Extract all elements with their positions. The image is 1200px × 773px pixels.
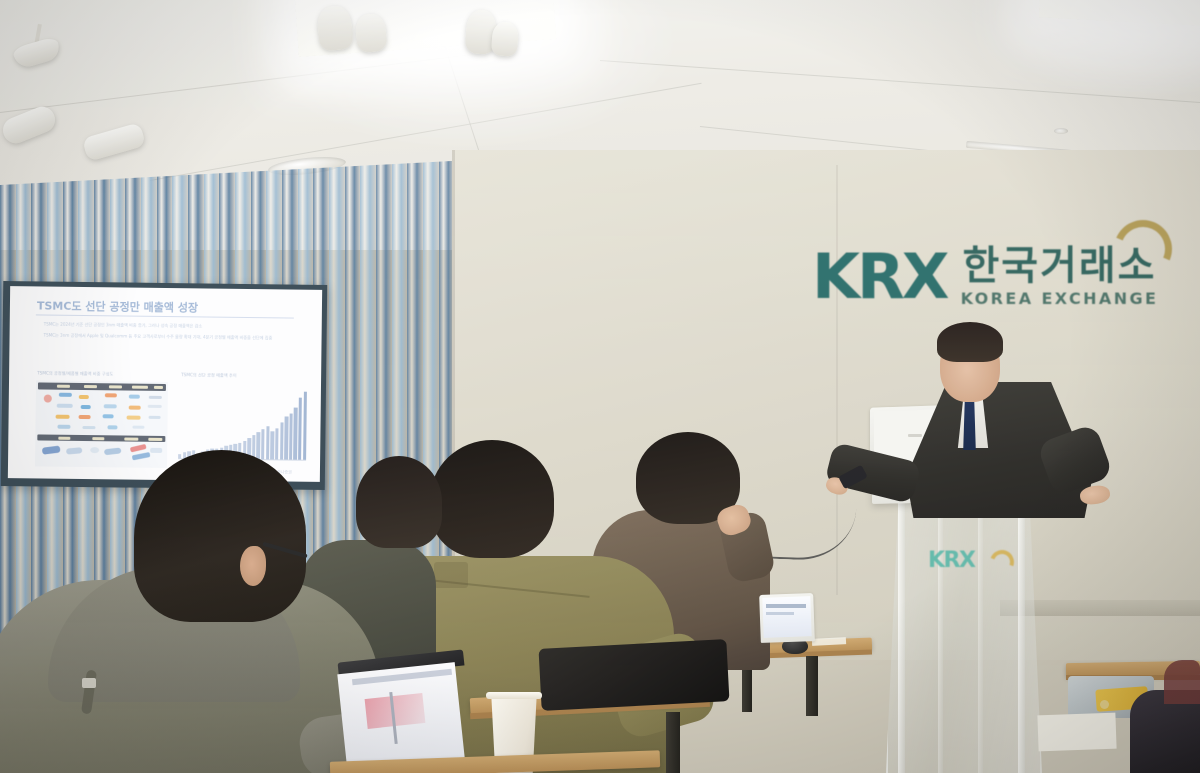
- slide-chart-bar: [270, 431, 274, 459]
- track-spotlight: [12, 36, 62, 70]
- slide-chart-bar: [275, 428, 279, 459]
- projection-screen: TSMC도 선단 공정만 매출액 성장 TSMC는 2024년 기준 선단 공정…: [8, 286, 322, 482]
- ceiling-sprinkler: [1054, 128, 1068, 134]
- slide-bar-chart: [178, 380, 307, 460]
- cup-rim: [486, 692, 542, 699]
- slide-chart-bar: [284, 417, 288, 460]
- attendee-front-left-hair: [134, 450, 306, 622]
- slide-chart-bar: [261, 429, 265, 459]
- slide-chart-bar: [298, 397, 302, 459]
- speaker-hair: [937, 322, 1003, 362]
- krx-english-text: KOREA EXCHANGE: [961, 289, 1159, 308]
- slide-left-caption: TSMC의 공정별/제품별 매출액 비중 구성도: [37, 370, 113, 377]
- slide-title: TSMC도 선단 공정만 매출액 성장: [37, 297, 198, 315]
- slide-chart-bar: [303, 392, 307, 460]
- attendee-ear: [240, 546, 266, 586]
- slide-chart-bar: [178, 454, 181, 458]
- podium-krx-logo: KRX: [928, 548, 974, 573]
- krx-wordmark: KRX: [812, 249, 947, 305]
- ceiling-panel-light-2: [1039, 0, 1200, 27]
- slide-chart-bar: [257, 433, 261, 460]
- track-spotlight-3: [82, 122, 146, 162]
- slide-right-caption: TSMC의 선단 공정 매출액 추이: [181, 372, 237, 379]
- slide-bullet-1: TSMC는 2024년 기준 선단 공정인 3nm 매출액 비중 증가, 그러나…: [44, 322, 203, 330]
- slide-chart-bar: [289, 414, 293, 460]
- equipment-case: [539, 639, 730, 711]
- slide-chart-bar: [280, 422, 284, 459]
- slide-chart-bar: [266, 426, 270, 459]
- slide-bullet-2: TSMC는 3nm 공정에서 Apple 및 Qualcomm 등 주요 고객사…: [44, 333, 273, 342]
- slide-chart-bar: [293, 408, 297, 460]
- seminar-photo: KRX 한국거래소 KOREA EXCHANGE TSMC도 선단 공정만 매출…: [0, 0, 1200, 773]
- track-spotlight-2: [0, 103, 59, 147]
- track-spotlight-7: [491, 21, 519, 57]
- krx-wall-logo: KRX 한국거래소 KOREA EXCHANGE: [812, 246, 1158, 308]
- desk-papers-right: [1037, 713, 1116, 752]
